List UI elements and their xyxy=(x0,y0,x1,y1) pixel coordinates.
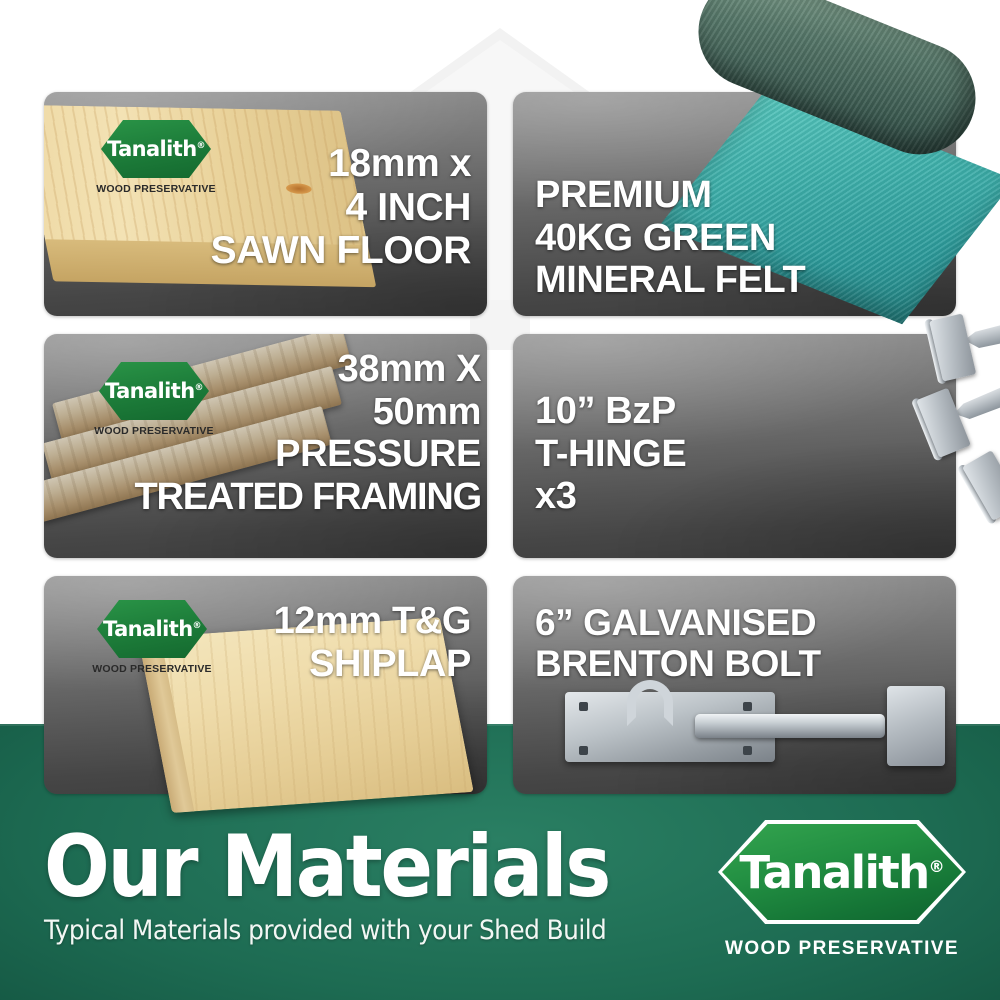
panel-shiplap-text: 12mm T&G SHIPLAP xyxy=(274,600,471,685)
tanalith-subtitle: WOOD PRESERVATIVE xyxy=(712,938,972,960)
panel-pressure-treated-framing[interactable]: Tanalith® WOOD PRESERVATIVE 38mm X 50mm … xyxy=(44,334,487,558)
text-line: TREATED FRAMING xyxy=(135,476,482,519)
text-line: 38mm X xyxy=(135,348,482,391)
text-line: 12mm T&G xyxy=(274,600,471,643)
text-line: PRESSURE xyxy=(135,433,482,476)
text-line: MINERAL FELT xyxy=(535,259,805,302)
panel-sawn-floor-text: 18mm x 4 INCH SAWN FLOOR xyxy=(211,142,471,273)
panel-mineral-felt-text: PREMIUM 40KG GREEN MINERAL FELT xyxy=(535,174,805,302)
panel-mineral-felt[interactable]: PREMIUM 40KG GREEN MINERAL FELT xyxy=(513,92,956,316)
page-title: Our Materials xyxy=(44,828,620,907)
text-line: x3 xyxy=(535,475,686,518)
text-line: T-HINGE xyxy=(535,433,686,476)
panel-framing-text: 38mm X 50mm PRESSURE TREATED FRAMING xyxy=(135,348,482,518)
text-line: 4 INCH xyxy=(211,186,471,230)
tanalith-brand-logo: Tanalith® WOOD PRESERVATIVE xyxy=(712,820,972,960)
text-line: BRENTON BOLT xyxy=(535,643,821,684)
materials-panel-grid: Tanalith® WOOD PRESERVATIVE 18mm x 4 INC… xyxy=(44,92,956,782)
tanalith-word: Tanalith xyxy=(739,846,928,899)
tanalith-hexagon-icon: Tanalith® xyxy=(718,820,966,924)
panel-brenton-bolt[interactable]: 6” GALVANISED BRENTON BOLT xyxy=(513,576,956,794)
text-line: 10” BzP xyxy=(535,390,686,433)
text-line: 50mm xyxy=(135,391,482,434)
panel-t-hinge-text: 10” BzP T-HINGE x3 xyxy=(535,390,686,518)
infographic-canvas: Tanalith® WOOD PRESERVATIVE 18mm x 4 INC… xyxy=(0,0,1000,1000)
text-line: PREMIUM xyxy=(535,174,805,217)
text-line: SHIPLAP xyxy=(274,643,471,686)
panel-tg-shiplap[interactable]: Tanalith® WOOD PRESERVATIVE 12mm T&G SHI… xyxy=(44,576,487,794)
banner-text-block: Our Materials Typical Materials provided… xyxy=(44,828,684,946)
panel-sawn-floor[interactable]: Tanalith® WOOD PRESERVATIVE 18mm x 4 INC… xyxy=(44,92,487,316)
registered-mark: ® xyxy=(929,857,945,876)
text-line: SAWN FLOOR xyxy=(211,229,471,273)
panel-brenton-bolt-text: 6” GALVANISED BRENTON BOLT xyxy=(535,602,821,685)
text-line: 40KG GREEN xyxy=(535,217,805,260)
page-subtitle: Typical Materials provided with your She… xyxy=(44,915,633,946)
text-line: 6” GALVANISED xyxy=(535,602,821,643)
panel-t-hinge[interactable]: 10” BzP T-HINGE x3 xyxy=(513,334,956,558)
text-line: 18mm x xyxy=(211,142,471,186)
